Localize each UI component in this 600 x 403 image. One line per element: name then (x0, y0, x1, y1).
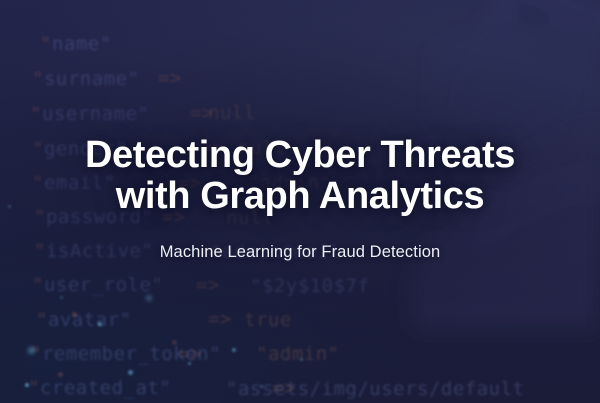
page-subtitle: Machine Learning for Fraud Detection (30, 243, 570, 262)
page-title: Detecting Cyber Threatswith Graph Analyt… (30, 135, 570, 217)
title-line-1: Detecting Cyber Threats (85, 134, 515, 176)
title-line-2: with Graph Analytics (30, 176, 570, 217)
slide-content: Detecting Cyber Threatswith Graph Analyt… (0, 0, 600, 403)
title-slide: "name" => null "surname" => null "userna… (0, 0, 600, 403)
